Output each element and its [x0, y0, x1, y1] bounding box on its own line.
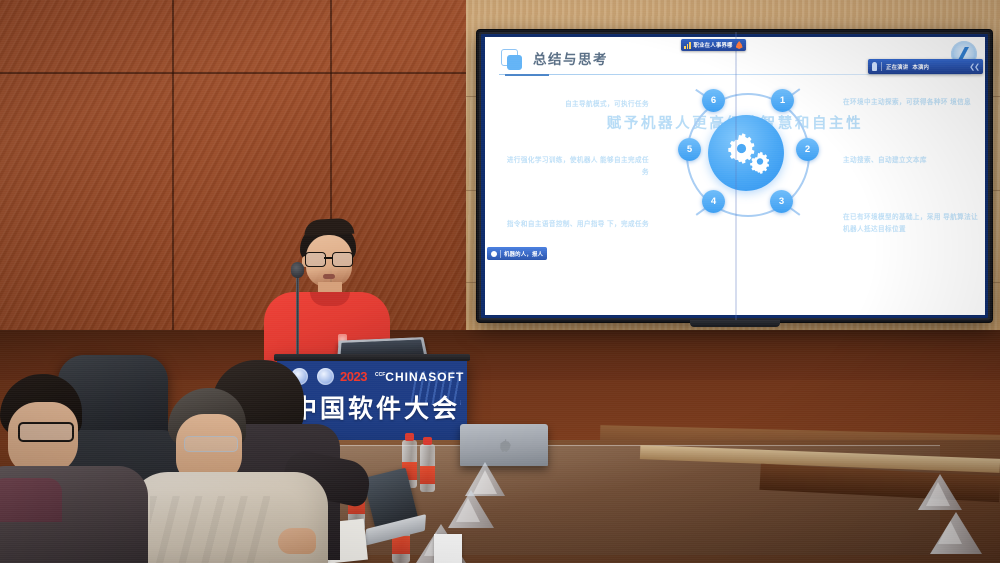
diagram-node-6: 6	[702, 89, 725, 112]
macbook-laptop	[460, 424, 548, 466]
record-dot-icon	[491, 251, 497, 257]
gears-icon	[722, 131, 770, 175]
stream-bottom-text: 机器的人，报人	[504, 250, 543, 258]
wall-panel-left	[0, 0, 478, 340]
jacket-folds	[150, 496, 270, 563]
signal-bars-icon	[684, 42, 691, 49]
diagram-node-4: 4	[702, 190, 725, 213]
display-stand	[690, 320, 780, 327]
stream-top-text: 职业在人事界哪	[694, 41, 733, 49]
wall-seam-vertical	[172, 0, 174, 340]
diagram-node-1: 1	[771, 89, 794, 112]
double-chevron-left-icon[interactable]: ❮❮	[969, 63, 979, 71]
screenshot-root: 总结与思考 赋予机器人更高级的智慧和自主性	[0, 0, 1000, 563]
diagram-node-5: 5	[678, 138, 701, 161]
circular-process-diagram: 1 2 3 4 5 6	[678, 85, 814, 221]
attendee-left-glasses	[18, 422, 74, 442]
presenter-glasses	[304, 252, 354, 265]
attendee-center	[120, 388, 330, 563]
lectern-brand-en: CCFCHINASOFT	[375, 370, 464, 384]
attendee-left	[0, 374, 148, 563]
diagram-label-right-1: 在环境中主动探索，可获得各种环 境信息	[843, 97, 975, 109]
flame-icon	[736, 41, 743, 49]
presenter-mouth	[323, 274, 335, 279]
attendee-center-glasses	[184, 436, 238, 452]
microphone-icon	[291, 262, 304, 278]
diagram-node-3: 3	[770, 190, 793, 213]
diagram-node-2: 2	[796, 138, 819, 161]
lectern-year: 2023	[340, 369, 367, 384]
diagram-label-left-2: 进行强化学习训练，使机器人 能够自主完成任务	[503, 155, 649, 178]
nameplate-card	[434, 534, 462, 563]
slide-header-accent	[505, 74, 549, 76]
stream-right-label-2: 本演内	[912, 63, 929, 71]
slide-section-title: 总结与思考	[533, 48, 608, 68]
lectern-brand-en-text: CHINASOFT	[385, 370, 464, 384]
lectern-brand-sup: CCF	[375, 372, 385, 378]
divider	[881, 62, 882, 71]
diagram-label-right-3: 在已有环境模型的基础上，采用 导航算法让机器人抵达目标位置	[843, 212, 981, 235]
attendee-left-scarf	[0, 478, 62, 522]
attendee-center-hand	[278, 528, 316, 554]
stream-bottom-badge[interactable]: 机器的人，报人	[487, 247, 547, 260]
stream-top-badge[interactable]: 职业在人事界哪	[681, 39, 746, 51]
diagram-label-right-2: 主动搜索、自动建立文本库	[843, 155, 975, 167]
display-panel-seam	[735, 32, 737, 320]
wall-seam-horizontal	[0, 72, 478, 74]
divider	[500, 250, 501, 258]
stream-right-label-1: 正在演讲	[886, 63, 908, 71]
layers-icon	[501, 49, 522, 70]
microphone-icon	[872, 62, 877, 71]
diagram-hub	[708, 115, 784, 191]
stream-right-bar[interactable]: 正在演讲 本演内 ❮❮	[868, 59, 983, 74]
diagram-label-left-3: 指令和自主语音控制、用户指导 下，完成任务	[505, 219, 649, 231]
diagram-label-left-1: 自主导航模式，可执行任务	[533, 99, 649, 111]
